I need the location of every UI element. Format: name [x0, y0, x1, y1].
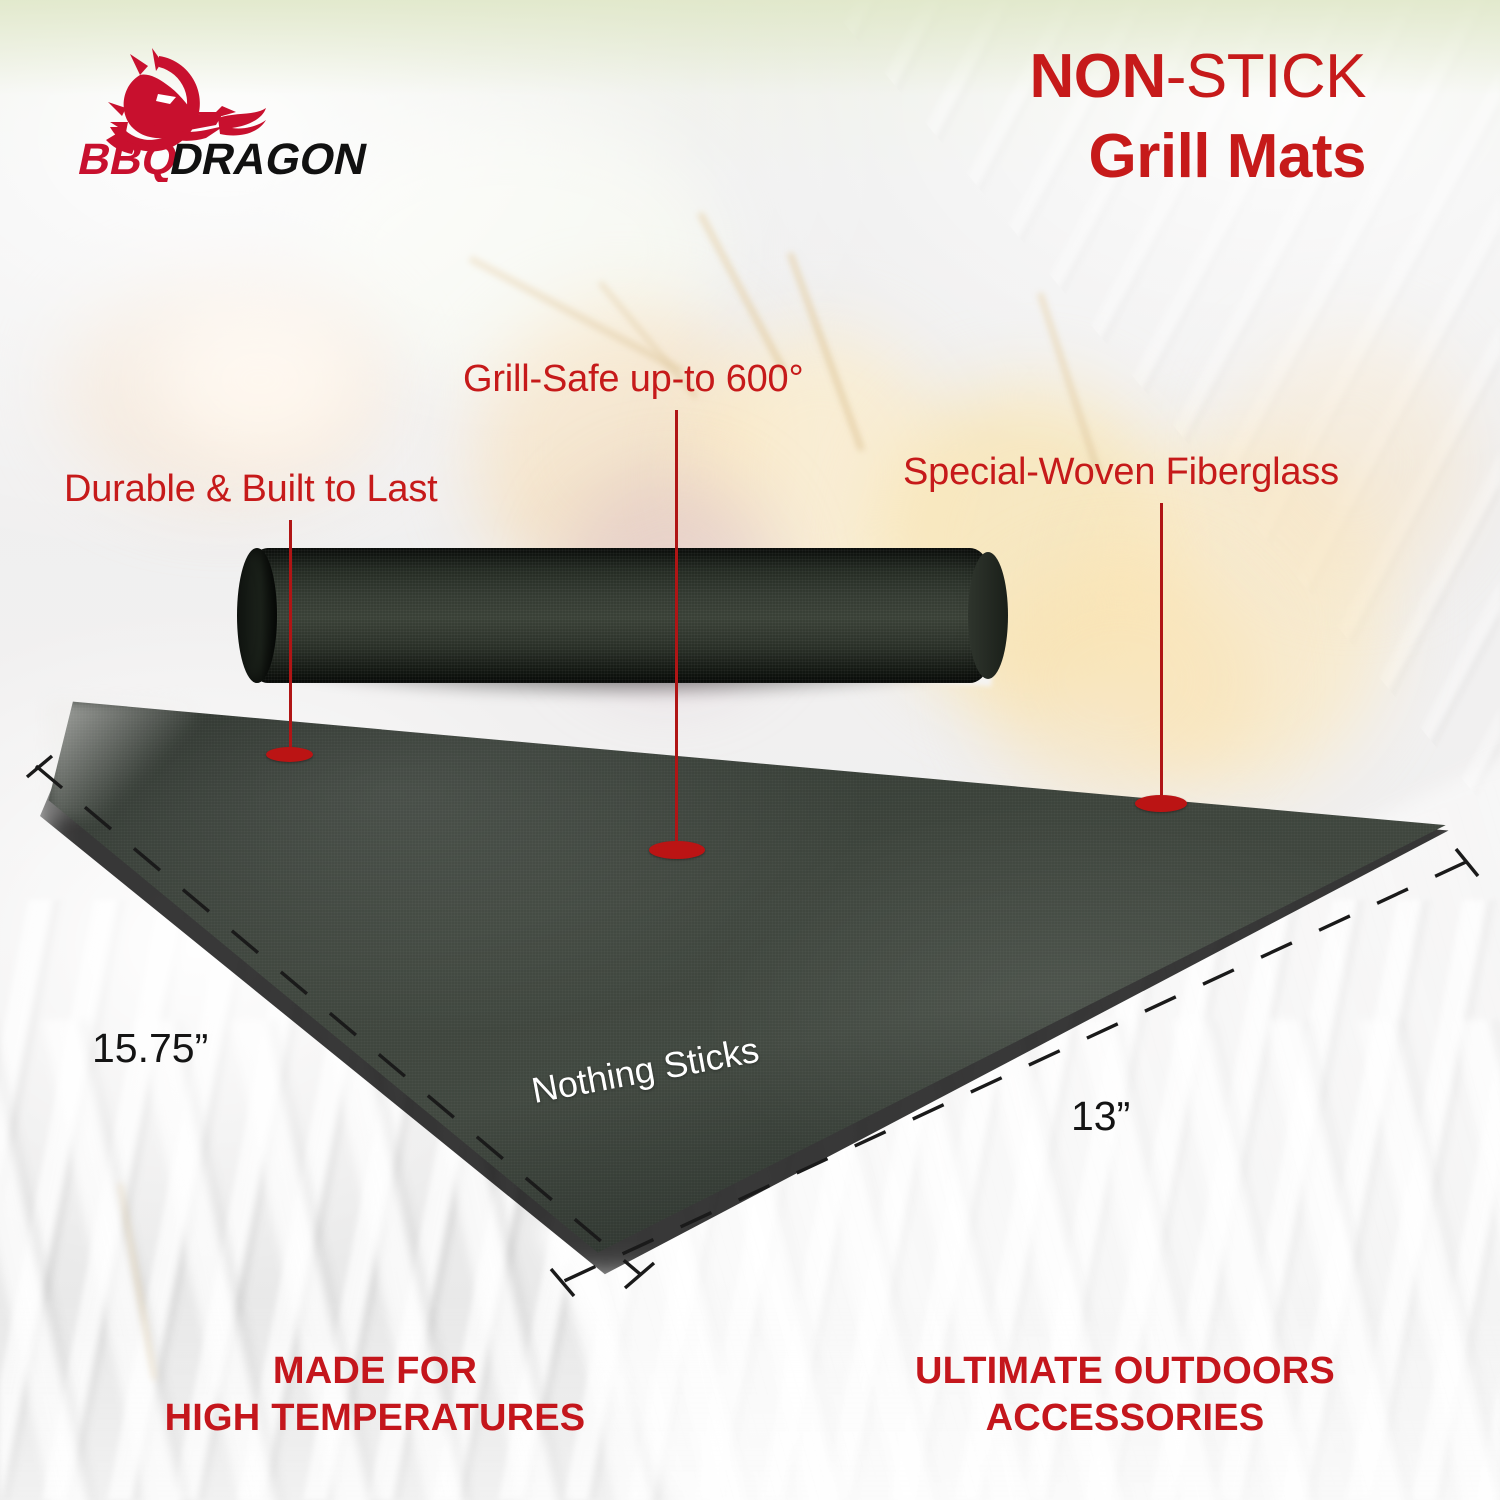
mat-corner-blur [48, 700, 198, 820]
footer-left-line-2: HIGH TEMPERATURES [0, 1395, 750, 1442]
product-infographic: BBQ DRAGON NON-STICK Grill Mats Nothing … [0, 0, 1500, 1500]
footer-right-tagline: ULTIMATE OUTDOORS ACCESSORIES [750, 1348, 1500, 1442]
footer-right-line-1: ULTIMATE OUTDOORS [750, 1348, 1500, 1395]
rolled-grill-mat [238, 548, 1000, 683]
callout-leader-line-durable [289, 520, 292, 754]
product-image [0, 0, 1500, 1500]
callout-leader-line-grill-safe [675, 410, 678, 848]
dimension-label-right: 13” [1071, 1093, 1130, 1140]
callout-pin-dot-fiberglass-icon [1135, 795, 1187, 812]
footer-right-line-2: ACCESSORIES [750, 1395, 1500, 1442]
callout-pin-dot-durable-icon [266, 747, 313, 762]
callout-pin-dot-grill-safe-icon [649, 841, 705, 859]
roll-right-end-cap [968, 552, 1008, 679]
dimension-label-left: 15.75” [92, 1025, 208, 1072]
footer-left-tagline: MADE FOR HIGH TEMPERATURES [0, 1348, 750, 1442]
footer-left-line-1: MADE FOR [0, 1348, 750, 1395]
footer: MADE FOR HIGH TEMPERATURES ULTIMATE OUTD… [0, 1348, 1500, 1442]
callout-leader-line-fiberglass [1160, 503, 1163, 803]
